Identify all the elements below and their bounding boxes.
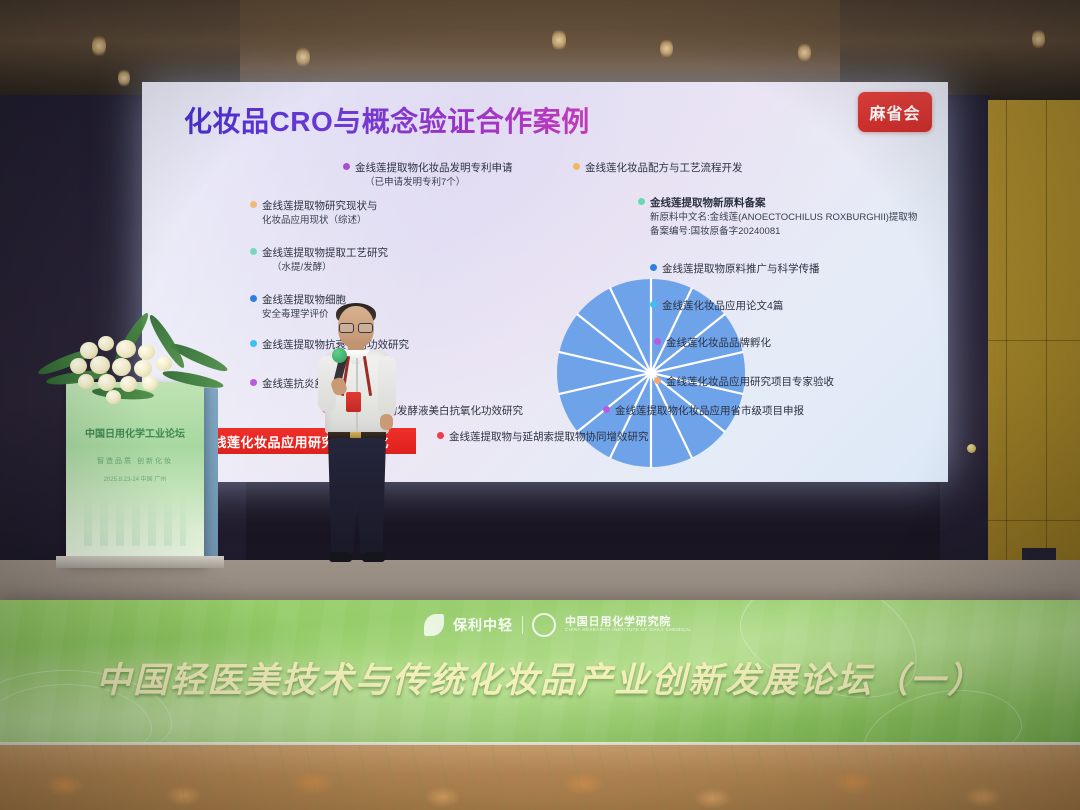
- slide-label-promotion: 金线莲提取物原料推广与科学传播: [650, 262, 820, 277]
- flower-bloom: [112, 358, 131, 376]
- slide-label-expert-acceptance: 金线莲化妆品应用研究项目专家验收: [654, 375, 834, 390]
- flower-bloom: [106, 390, 121, 404]
- label-text: 金线莲化妆品配方与工艺流程开发: [585, 162, 743, 174]
- ceiling-light: [660, 38, 673, 59]
- photo-canvas: 化妆品CRO与概念验证合作案例 麻省会 金线莲提取物化妆品发明专利申请 （已申请…: [0, 0, 1080, 810]
- bullet-dot: [650, 301, 657, 308]
- flower-bloom: [78, 374, 94, 389]
- name-badge: [346, 392, 361, 412]
- bullet-dot: [638, 198, 645, 205]
- label-subtext: 化妆品应用现状（综述）: [262, 214, 378, 228]
- label-subtext-2: 备案编号:国妆原备字20240081: [650, 225, 917, 239]
- bullet-dot: [250, 379, 257, 386]
- label-text: 金线莲提取物化妆品发明专利申请: [355, 162, 513, 174]
- ceiling-light: [296, 46, 310, 68]
- flower-bloom: [98, 336, 114, 351]
- label-text: 金线莲化妆品应用论文4篇: [662, 300, 783, 312]
- bullet-dot: [654, 338, 661, 345]
- label-text: 金线莲提取物细胞: [262, 294, 346, 306]
- label-text: 金线莲提取物新原料备案: [650, 197, 766, 209]
- right-hand: [380, 414, 393, 430]
- flower-bloom: [98, 374, 116, 391]
- slide-title: 化妆品CRO与概念验证合作案例: [184, 100, 590, 140]
- logo-divider: [522, 616, 523, 634]
- flower-bloom: [116, 340, 136, 358]
- podium-subtitle: 智造品质 创新化妆: [74, 456, 196, 466]
- slide-label-patent: 金线莲提取物化妆品发明专利申请 （已申请发明专利7个）: [343, 161, 513, 190]
- trousers: [328, 438, 386, 554]
- door-knob-icon: [967, 444, 976, 453]
- bullet-dot: [343, 163, 350, 170]
- bullet-dot: [603, 406, 610, 413]
- sponsor-logos: 保利中轻 中国日用化学研究院 CHINA RESEARCH INSTITUTE …: [424, 612, 692, 638]
- flower-bloom: [134, 360, 152, 377]
- bullet-dot: [437, 432, 444, 439]
- label-text: 金线莲化妆品应用研究项目专家验收: [666, 376, 834, 388]
- wall-panel-right: [988, 100, 1080, 590]
- bullet-dot: [573, 163, 580, 170]
- label-text: 金线莲提取物研究现状与: [262, 200, 378, 212]
- led-presentation-screen: 化妆品CRO与概念验证合作案例 麻省会 金线莲提取物化妆品发明专利申请 （已申请…: [142, 82, 948, 482]
- bullet-dot: [654, 377, 661, 384]
- shoe: [329, 552, 352, 562]
- bullet-dot: [250, 340, 257, 347]
- flower-bloom: [142, 376, 158, 391]
- logo-secondary-en: CHINA RESEARCH INSTITUTE OF DAILY CHEMIC…: [565, 628, 692, 633]
- ceiling-light: [1032, 28, 1045, 50]
- slide-label-new-raw-material: 金线莲提取物新原料备案 新原料中文名:金线莲(ANOECTOCHILUS ROX…: [638, 196, 917, 239]
- flower-bloom: [70, 358, 87, 374]
- logo-primary-text: 保利中轻: [453, 615, 513, 635]
- microphone-head: [332, 348, 347, 363]
- brand-stamp-logo: 麻省会: [858, 92, 932, 132]
- right-arm: [378, 356, 396, 418]
- leaf-logo-icon: [424, 614, 444, 636]
- podium-sign: 中国日用化学工业论坛 智造品质 创新化妆 2025.8.23-24 中国 广州: [66, 382, 204, 564]
- podium-base: [56, 556, 224, 568]
- label-subtext: （已申请发明专利7个）: [365, 176, 513, 190]
- label-subtext: （水提/发酵）: [272, 261, 388, 275]
- ceiling-light: [552, 28, 566, 52]
- flower-bloom: [90, 356, 110, 374]
- slide-label-extraction-process: 金线莲提取物提取工艺研究 （水提/发酵）: [250, 246, 388, 275]
- ceiling-light: [798, 42, 811, 63]
- logo-secondary: 中国日用化学研究院 CHINA RESEARCH INSTITUTE OF DA…: [565, 617, 692, 633]
- stage-front-banner: 保利中轻 中国日用化学研究院 CHINA RESEARCH INSTITUTE …: [0, 600, 1080, 745]
- flower-bloom: [120, 376, 137, 392]
- podium-side-panel: [204, 388, 218, 561]
- slide-label-synergy-study: 金线莲提取物与延胡索提取物协同增效研究: [437, 430, 649, 445]
- flower-bloom: [138, 344, 155, 360]
- institute-seal-icon: [532, 613, 556, 637]
- label-text: 金线莲化妆品品牌孵化: [666, 337, 771, 349]
- palm-frond: [162, 368, 225, 392]
- ceiling-light: [92, 34, 106, 58]
- label-text: 金线莲提取物原料推广与科学传播: [662, 263, 820, 275]
- slide-label-brand-incubation: 金线莲化妆品品牌孵化: [654, 336, 771, 351]
- podium-date: 2025.8.23-24 中国 广州: [74, 474, 196, 483]
- flower-bloom: [156, 356, 172, 371]
- bullet-dot: [650, 264, 657, 271]
- floor-carpet: [0, 745, 1080, 810]
- podium-skyline-graphic: [84, 494, 186, 546]
- shoe: [362, 552, 385, 562]
- speaker-person: [312, 306, 402, 568]
- podium-title: 中国日用化学工业论坛: [74, 428, 196, 442]
- label-subtext: 新原料中文名:金线莲(ANOECTOCHILUS ROXBURGHII)提取物: [650, 211, 917, 225]
- slide-label-formula: 金线莲化妆品配方与工艺流程开发: [573, 161, 743, 176]
- label-text: 金线莲提取物化妆品应用省市级项目申报: [615, 405, 804, 417]
- slide-label-provincial-project: 金线莲提取物化妆品应用省市级项目申报: [603, 404, 804, 419]
- slide-label-papers: 金线莲化妆品应用论文4篇: [650, 299, 783, 314]
- bullet-dot: [250, 295, 257, 302]
- label-text: 金线莲提取物提取工艺研究: [262, 247, 388, 259]
- bullet-dot: [250, 248, 257, 255]
- slide-label-research-status: 金线莲提取物研究现状与 化妆品应用现状（综述）: [250, 199, 378, 228]
- glasses-icon: [339, 323, 373, 331]
- bullet-dot: [250, 201, 257, 208]
- ceiling-light: [118, 68, 130, 88]
- flower-arrangement: [40, 326, 230, 406]
- forum-banner-title: 中国轻医美技术与传统化妆品产业创新发展论坛（一）: [0, 652, 1080, 703]
- label-text: 金线莲提取物与延胡索提取物协同增效研究: [449, 431, 649, 443]
